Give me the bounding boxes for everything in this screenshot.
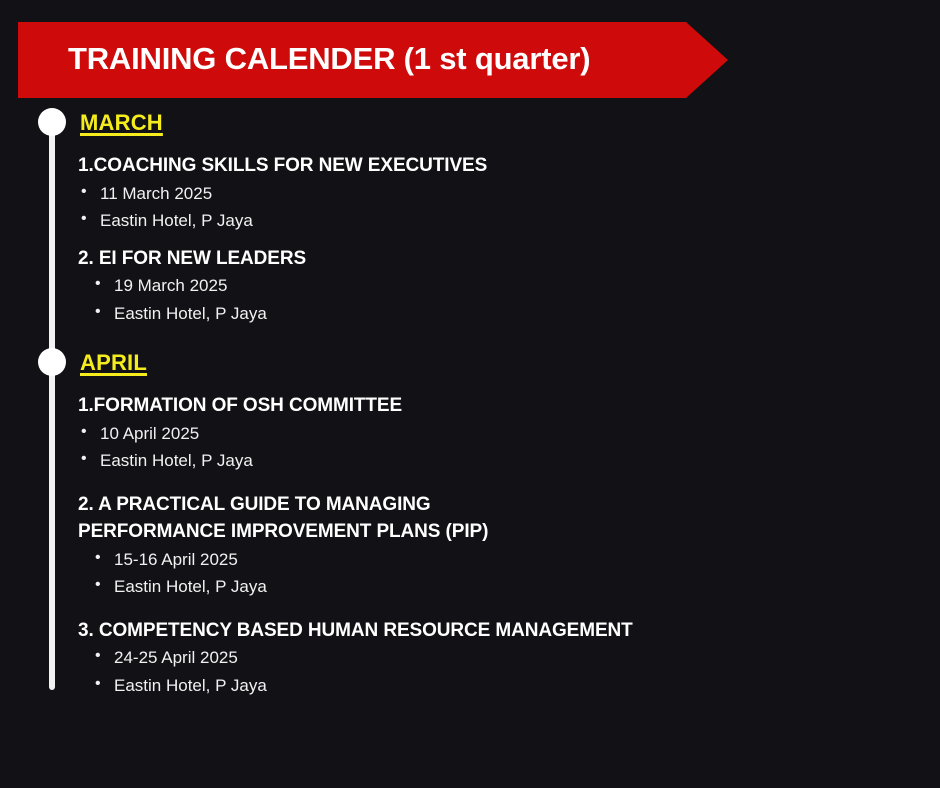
event-details: 11 March 2025 Eastin Hotel, P Jaya [78,180,940,235]
event-item: 3. COMPETENCY BASED HUMAN RESOURCE MANAG… [0,617,940,700]
event-item: 2. EI FOR NEW LEADERS 19 March 2025 East… [0,245,940,328]
event-number: 1. [78,155,94,176]
event-date: 15-16 April 2025 [92,546,940,574]
event-venue: Eastin Hotel, P Jaya [92,672,940,700]
event-details: 19 March 2025 Eastin Hotel, P Jaya [92,272,940,327]
event-item: 1.FORMATION OF OSH COMMITTEE 10 April 20… [0,392,940,475]
calendar-content: MARCH 1.COACHING SKILLS FOR NEW EXECUTIV… [0,0,940,788]
event-title: 3. COMPETENCY BASED HUMAN RESOURCE MANAG… [78,617,940,645]
event-date: 19 March 2025 [92,272,940,300]
event-details: 15-16 April 2025 Eastin Hotel, P Jaya [92,546,940,601]
event-details: 10 April 2025 Eastin Hotel, P Jaya [78,420,940,475]
event-venue: Eastin Hotel, P Jaya [78,207,940,235]
event-number: 3. [78,620,94,641]
event-title: 1.FORMATION OF OSH COMMITTEE [82,392,940,420]
event-title-text: A PRACTICAL GUIDE TO MANAGING PERFORMANC… [78,494,488,543]
event-date: 11 March 2025 [78,180,940,208]
month-label-march: MARCH [80,110,163,136]
event-title-text: EI FOR NEW LEADERS [99,248,306,269]
event-title: 1.COACHING SKILLS FOR NEW EXECUTIVES [82,152,940,180]
month-block-april: APRIL 1.FORMATION OF OSH COMMITTEE 10 Ap… [0,350,940,699]
event-venue: Eastin Hotel, P Jaya [78,447,940,475]
event-venue: Eastin Hotel, P Jaya [92,573,940,601]
event-title-text: COACHING SKILLS FOR NEW EXECUTIVES [94,155,488,176]
event-number: 2. [78,494,94,515]
event-title-text: COMPETENCY BASED HUMAN RESOURCE MANAGEME… [99,620,633,641]
event-title-text: FORMATION OF OSH COMMITTEE [94,395,402,416]
month-block-march: MARCH 1.COACHING SKILLS FOR NEW EXECUTIV… [0,110,940,327]
event-title: 2. A PRACTICAL GUIDE TO MANAGING PERFORM… [78,491,940,546]
event-item: 1.COACHING SKILLS FOR NEW EXECUTIVES 11 … [0,152,940,235]
event-item: 2. A PRACTICAL GUIDE TO MANAGING PERFORM… [0,491,940,601]
event-number: 2. [78,248,94,269]
event-details: 24-25 April 2025 Eastin Hotel, P Jaya [92,644,940,699]
month-label-april: APRIL [80,350,147,376]
event-date: 10 April 2025 [78,420,940,448]
event-title: 2. EI FOR NEW LEADERS [78,245,940,273]
event-number: 1. [78,395,94,416]
event-venue: Eastin Hotel, P Jaya [92,300,940,328]
event-date: 24-25 April 2025 [92,644,940,672]
